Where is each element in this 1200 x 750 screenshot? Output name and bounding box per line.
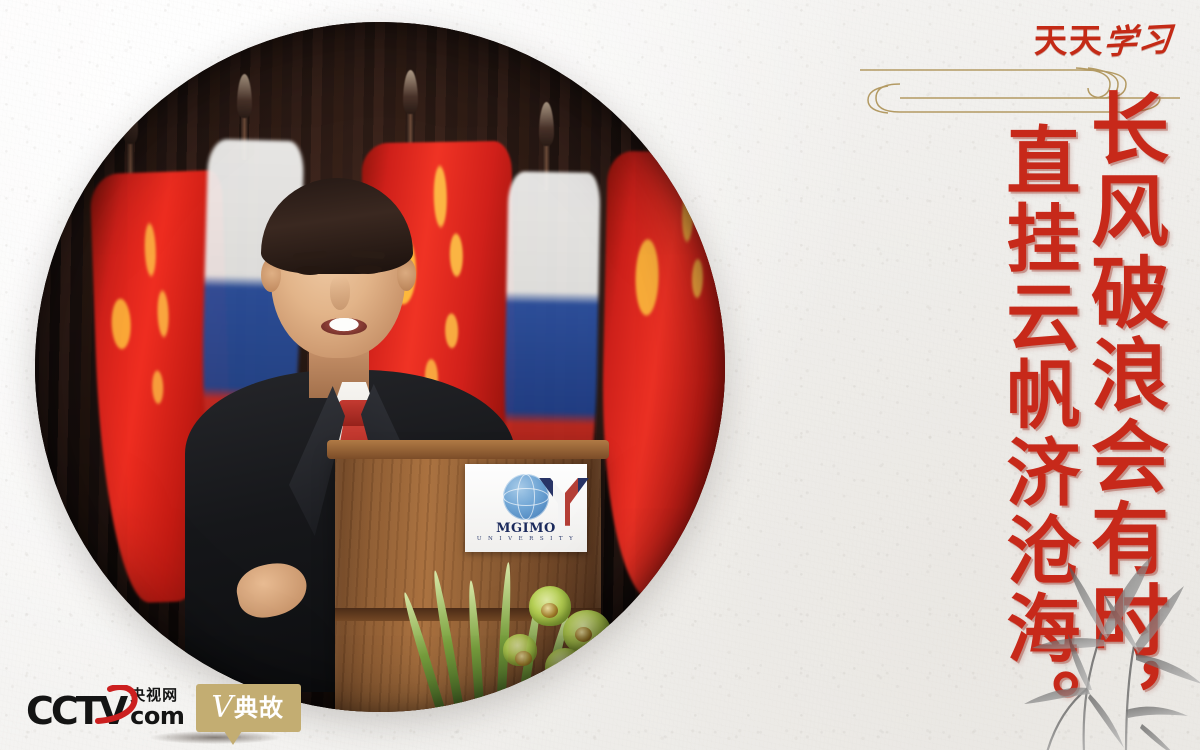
speaker-photo-circle: MGIMO U N I V E R S I T Y bbox=[35, 22, 725, 712]
emblem-subtitle: U N I V E R S I T Y bbox=[477, 537, 575, 543]
cctv-red-arc-icon bbox=[94, 685, 140, 725]
footer-logos: CCTV 央视网 com V 典故 bbox=[26, 684, 301, 732]
orchid-flower bbox=[545, 648, 585, 686]
v-letter: V bbox=[211, 693, 233, 723]
speaker-nose bbox=[330, 276, 350, 310]
brand-title: 天天学习 bbox=[1034, 24, 1172, 57]
v-diangu-label: 典故 bbox=[234, 696, 284, 720]
podium-top-edge bbox=[327, 440, 609, 459]
tricolor-ribbon-icon bbox=[539, 478, 589, 526]
poster-canvas: MGIMO U N I V E R S I T Y 天天学习 bbox=[0, 0, 1200, 750]
globe-icon bbox=[503, 474, 549, 520]
cctv-logo[interactable]: CCTV 央视网 com bbox=[26, 688, 184, 728]
flag-china-right bbox=[598, 151, 725, 604]
speaker-hair bbox=[261, 178, 413, 274]
orchid-flower bbox=[529, 586, 571, 626]
brand-mark: 天天学习 bbox=[1034, 24, 1172, 57]
v-diangu-badge[interactable]: V 典故 bbox=[196, 684, 301, 732]
orchid-flower bbox=[589, 656, 625, 690]
brand-title-bold: 天天 bbox=[1034, 21, 1104, 60]
orchid-flower bbox=[563, 610, 611, 654]
podium-flowers bbox=[437, 552, 667, 712]
logo-drop-shadow bbox=[150, 731, 280, 744]
orchid-flower bbox=[503, 634, 537, 666]
podium-emblem-mgimo: MGIMO U N I V E R S I T Y bbox=[465, 464, 587, 552]
leaf-blade bbox=[466, 580, 486, 712]
speaker-eye-left bbox=[296, 266, 324, 275]
bamboo-ink-illustration bbox=[976, 528, 1200, 750]
speaker-mouth bbox=[321, 318, 367, 335]
emblem-name: MGIMO bbox=[496, 522, 556, 535]
speaker-eye-right bbox=[354, 265, 382, 274]
brand-title-cursive: 学习 bbox=[1103, 22, 1174, 59]
